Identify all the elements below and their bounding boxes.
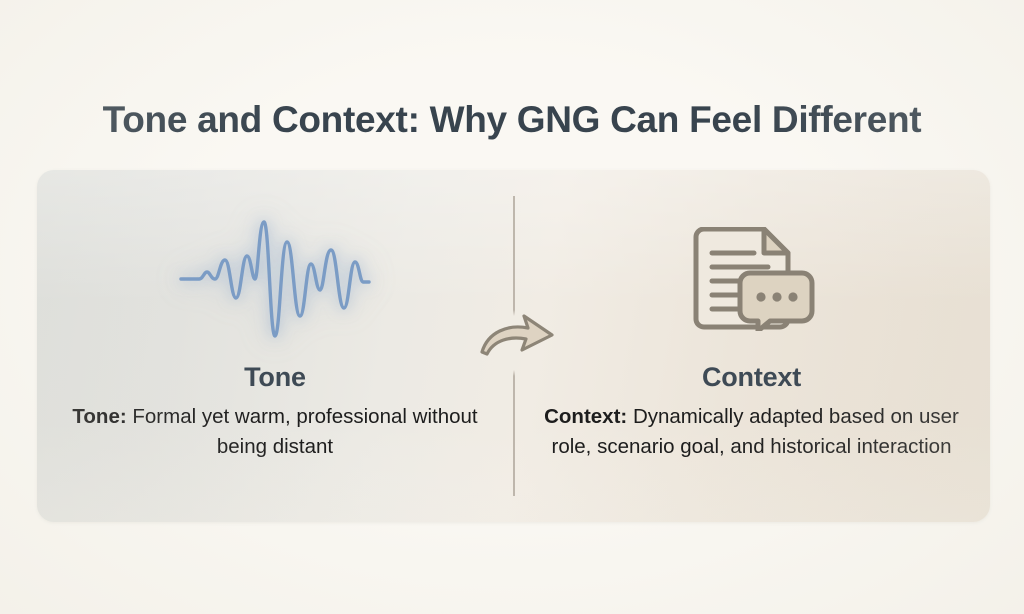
document-fold-corner: [764, 229, 788, 253]
tone-description-text: Formal yet warm, professional without be…: [127, 405, 478, 458]
context-description: Context: Dynamically adapted based on us…: [513, 402, 990, 462]
panel-context: Context Context: Dynamically adapted bas…: [513, 170, 990, 522]
tone-description-label: Tone:: [72, 405, 126, 428]
context-description-label: Context:: [544, 405, 627, 428]
speech-bubble-dots: [756, 292, 797, 301]
audio-waveform-icon: [179, 220, 371, 338]
curved-arrow-right-icon: [478, 308, 558, 364]
tone-description: Tone: Formal yet warm, professional with…: [37, 402, 513, 462]
context-icon-slot: [513, 214, 990, 344]
panel-tone: Tone Tone: Formal yet warm, professional…: [37, 170, 513, 522]
speech-bubble: [740, 273, 812, 331]
tone-icon-slot: [37, 214, 513, 344]
page-title: Tone and Context: Why GNG Can Feel Diffe…: [0, 99, 1024, 141]
document-chat-icon: [688, 227, 816, 331]
context-heading: Context: [513, 362, 990, 393]
tone-heading: Tone: [37, 362, 513, 393]
